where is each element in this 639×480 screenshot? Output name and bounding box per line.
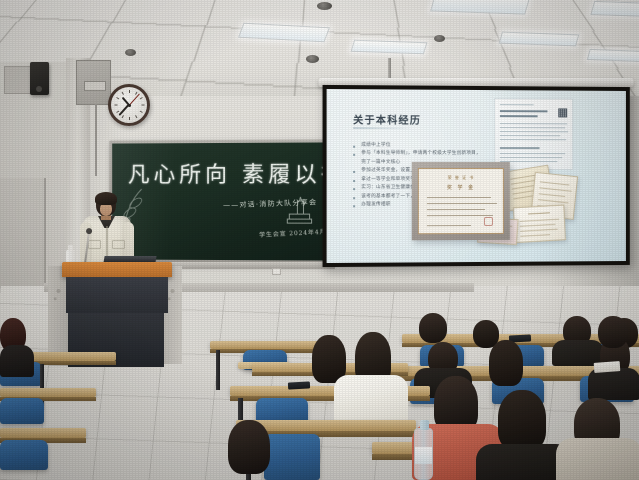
desk-leg (216, 350, 220, 390)
classroom-photo-scene: 凡心所向 素履以往 ——对话·消防大队分享会 学生会宣 2024年4月 关于本科… (0, 0, 639, 480)
smoke-detector-icon (317, 2, 332, 10)
slide-document-image (494, 98, 573, 170)
chair-empty (0, 440, 48, 470)
wall-speaker-icon (30, 62, 49, 95)
wall-outlet-icon (272, 268, 281, 275)
student-white-hoodie (334, 375, 408, 423)
slide-bullet: 成绩中上学位 (353, 142, 484, 151)
desk-row (0, 428, 86, 438)
presenter-pocket (88, 240, 101, 249)
wall-clock (108, 84, 150, 126)
smoke-detector-icon (125, 49, 136, 56)
podium-front-panel (66, 277, 168, 313)
wall-conduit (95, 104, 97, 176)
electrical-panel-box (76, 60, 111, 105)
podium-side-decoration (167, 278, 178, 304)
slide-paper-image (513, 204, 566, 243)
lower-door-panel (0, 178, 46, 296)
clock-center-pin (128, 104, 131, 107)
bottle-label (415, 447, 432, 464)
podium-top-surface (62, 262, 172, 277)
slide-title-underline (353, 128, 412, 129)
slide-title: 关于本科经历 (353, 111, 421, 126)
ceiling-light-panel (587, 49, 639, 62)
certificate-header: 荣 誉 证 书 (448, 175, 475, 181)
dome-camera-icon (306, 55, 319, 63)
blackboard-signature: 学生会宣 2024年4月 (259, 228, 327, 240)
ceiling-light-panel (351, 40, 428, 55)
water-bottle (414, 428, 433, 480)
notebook-on-desk (594, 361, 621, 373)
blackboard-headline: 凡心所向 素履以往 (128, 165, 324, 187)
ceiling-light-panel (590, 1, 639, 17)
student-cream-sweater (556, 438, 639, 480)
slide-surface: 关于本科经历 成绩中上学位 参与「本科生导师制」，申请两个校级大学生创新项目，完… (327, 89, 626, 263)
chair (264, 434, 320, 480)
chalk-doodle-books-icon (283, 195, 315, 229)
desk-row (0, 388, 96, 397)
presenter-pocket (112, 240, 125, 249)
presenter-hair (95, 192, 117, 205)
smoke-detector-icon (434, 35, 445, 42)
certificate-face: 荣 誉 证 书 奖 学 金 (418, 168, 504, 234)
blackboard: 凡心所向 素履以往 ——对话·消防大队分享会 学生会宣 2024年4月 (109, 139, 331, 263)
slide-certificate-image: 荣 誉 证 书 奖 学 金 (412, 162, 510, 240)
blackboard-surface: 凡心所向 素履以往 ——对话·消防大队分享会 学生会宣 2024年4月 (112, 142, 328, 260)
certificate-subtitle: 奖 学 金 (447, 184, 475, 191)
smartphone-on-desk (288, 381, 310, 389)
qr-code-icon (558, 108, 567, 117)
chair-empty (0, 398, 44, 424)
projection-screen: 关于本科经历 成绩中上学位 参与「本科生导师制」，申请两个校级大学生创新项目，完… (323, 85, 630, 267)
desk-row (210, 341, 326, 349)
certificate-seal-icon (484, 217, 493, 226)
podium-side-decoration (53, 278, 64, 304)
